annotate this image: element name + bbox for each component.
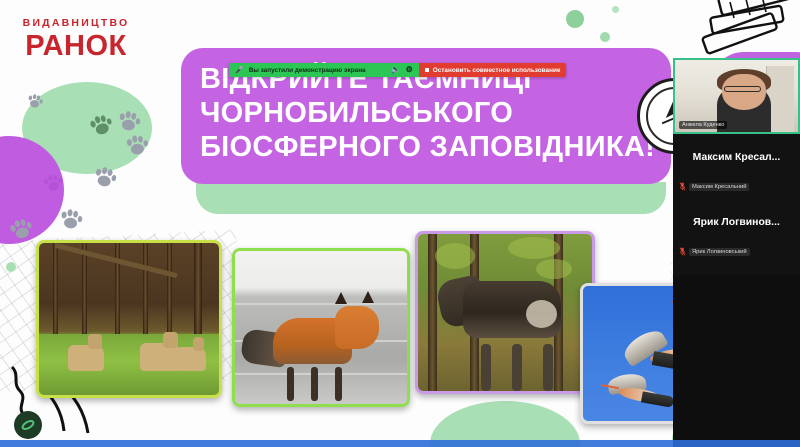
- photo-moose[interactable]: [415, 231, 595, 394]
- logo-line-top: ВИДАВНИЦТВО: [22, 18, 130, 29]
- participant-1-display-name: Максим Кресал...: [673, 134, 800, 180]
- logo-line-main: РАНОК: [22, 31, 130, 61]
- title-line-2: ЧОРНОБИЛЬСЬКОГО: [200, 96, 660, 130]
- participant-1-footer-name: Максим Кресальний: [689, 183, 749, 191]
- desktop-taskbar[interactable]: [0, 440, 800, 447]
- decor-green-dot-4: [6, 262, 16, 272]
- decor-green-dot-1: [566, 10, 584, 28]
- paw-print-icon: [25, 91, 46, 112]
- photo-fox[interactable]: [232, 248, 410, 407]
- share-status-section[interactable]: 🎤 Вы запустили демонстрацию экрана 🔈 ⚙: [229, 63, 419, 77]
- paw-print-icon: [123, 131, 152, 160]
- stop-sharing-label: Остановить совместное использование: [433, 67, 561, 74]
- zoom-tile-participant-2[interactable]: Ярик Логвинов... Ярик Логвиновський: [673, 199, 800, 264]
- slide-stage: ВИДАВНИЦТВО РАНОК Відкрийте таємниці ЧОР…: [0, 0, 800, 447]
- stop-square-icon: [425, 68, 429, 72]
- page-title: Відкрийте таємниці ЧОРНОБИЛЬСЬКОГО БІОСФ…: [200, 62, 660, 165]
- participant-2-footer: Ярик Логвиновський: [673, 245, 800, 264]
- speaker-icon[interactable]: 🔈: [391, 66, 401, 74]
- participant-2-display-name: Ярик Логвинов...: [673, 199, 800, 245]
- mic-muted-icon: [679, 247, 686, 256]
- mic-muted-icon: [679, 182, 686, 191]
- share-status-text: Вы запустили демонстрацию экрана: [249, 67, 366, 74]
- active-speaker-name: Анжела Куденко: [679, 121, 727, 129]
- microphone-icon[interactable]: 🎤: [235, 67, 244, 74]
- zoom-tile-participant-1[interactable]: Максим Кресал... Максим Кресальний: [673, 134, 800, 199]
- paw-print-icon: [57, 205, 86, 234]
- active-speaker-video[interactable]: Анжела Куденко: [673, 58, 800, 134]
- zoom-panel-background: [673, 275, 800, 447]
- glasses-icon: [724, 86, 761, 92]
- paw-print-icon: [90, 162, 121, 193]
- photo-horses[interactable]: [36, 240, 222, 398]
- title-line-3: БІОСФЕРНОГО ЗАПОВІДНИКА!: [200, 130, 660, 164]
- gear-icon[interactable]: ⚙: [406, 66, 413, 74]
- decor-green-dot-2: [600, 32, 610, 42]
- photo-horses-image: [39, 243, 219, 395]
- decor-green-dot-3: [612, 6, 619, 13]
- photo-fox-image: [235, 251, 407, 404]
- zoom-participants-panel[interactable]: Анжела Куденко Максим Кресал... Максим К…: [673, 58, 800, 275]
- publisher-logo: ВИДАВНИЦТВО РАНОК: [22, 18, 130, 61]
- zoom-tile-active-speaker[interactable]: Анжела Куденко: [673, 58, 800, 134]
- title-banner-shadow: [196, 182, 666, 214]
- photo-moose-image: [418, 234, 592, 391]
- screen-share-toolbar[interactable]: 🎤 Вы запустили демонстрацию экрана 🔈 ⚙ О…: [229, 63, 566, 77]
- stop-sharing-button[interactable]: Остановить совместное использование: [419, 63, 567, 77]
- participant-1-footer: Максим Кресальний: [673, 180, 800, 199]
- participant-2-footer-name: Ярик Логвиновський: [689, 248, 750, 256]
